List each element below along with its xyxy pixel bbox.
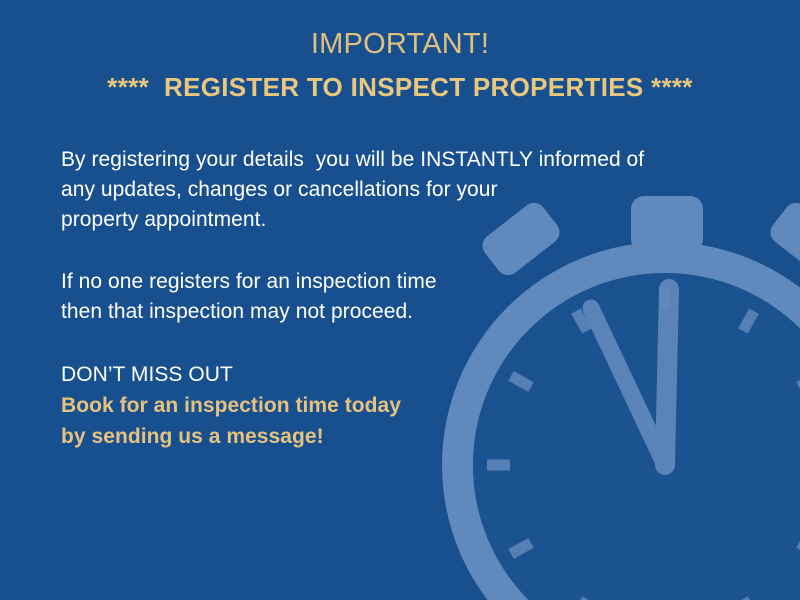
paragraph-line: If no one registers for an inspection ti… <box>61 267 721 297</box>
paragraph-line: then that inspection may not proceed. <box>61 297 721 327</box>
paragraph-line: any updates, changes or cancellations fo… <box>61 175 721 205</box>
cta-send-message: by sending us a message! <box>61 421 721 452</box>
paragraph-spacer <box>61 327 721 359</box>
promo-slide: IMPORTANT! **** REGISTER TO INSPECT PROP… <box>0 0 800 600</box>
heading-important: IMPORTANT! <box>0 26 800 62</box>
heading-register: **** REGISTER TO INSPECT PROPERTIES **** <box>0 70 800 104</box>
heading-block: IMPORTANT! **** REGISTER TO INSPECT PROP… <box>0 26 800 104</box>
call-to-action-block: DON’T MISS OUT Book for an inspection ti… <box>61 359 721 452</box>
cta-book-inspection: Book for an inspection time today <box>61 390 721 421</box>
paragraph-line: By registering your details you will be … <box>61 145 721 175</box>
body-copy: By registering your details you will be … <box>61 145 721 452</box>
paragraph-no-registration: If no one registers for an inspection ti… <box>61 267 721 327</box>
paragraph-registering: By registering your details you will be … <box>61 145 721 235</box>
paragraph-spacer <box>61 235 721 267</box>
paragraph-line: property appointment. <box>61 205 721 235</box>
cta-dont-miss-out: DON’T MISS OUT <box>61 359 721 390</box>
